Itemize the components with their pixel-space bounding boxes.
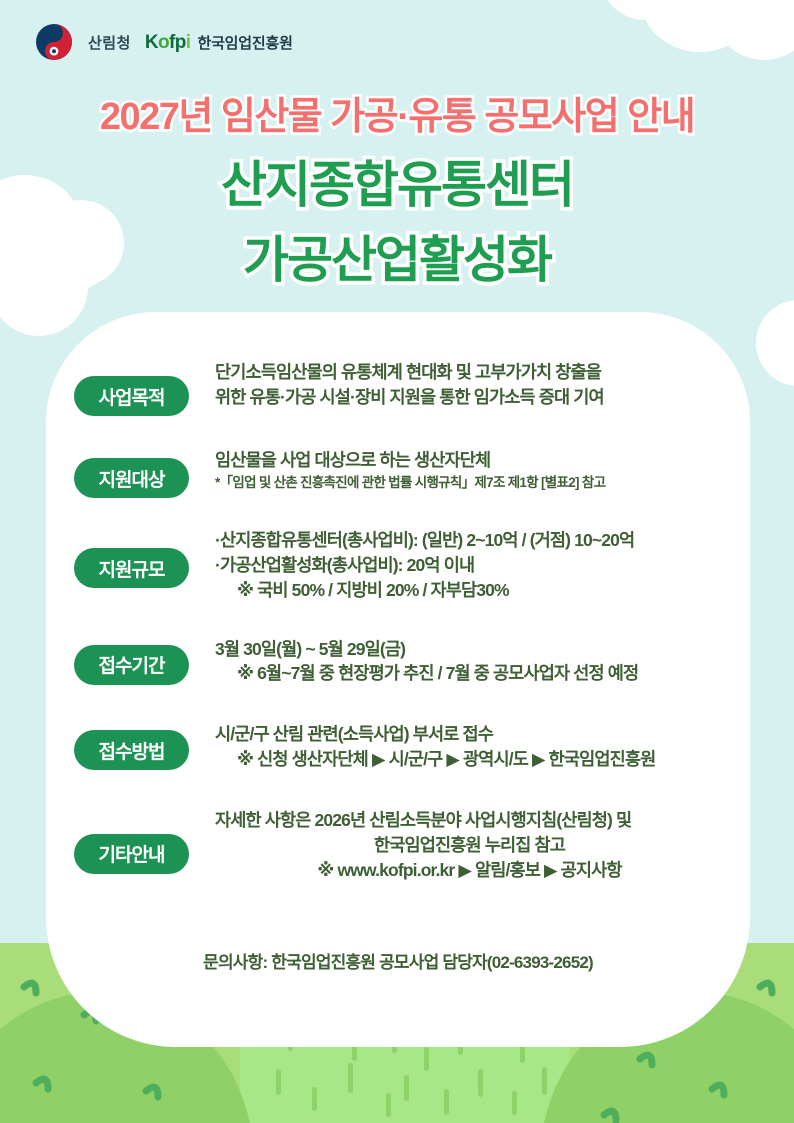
- section-row-scale: 지원규모 ·산지종합유통센터(총사업비): (일반) 2~10억 / (거점) …: [46, 528, 750, 603]
- section-label-period: 접수기간: [74, 645, 189, 685]
- cloud-decoration: [756, 300, 794, 386]
- section-body-period: 3월 30일(월) ~ 5월 29일(금) ※ 6월~7월 중 현장평가 추진 …: [189, 637, 724, 687]
- contact-line: 문의사항: 한국임업진흥원 공모사업 담당자(02-6393-2652): [46, 948, 750, 973]
- section-body-method: 시/군/구 산림 관련(소득사업) 부서로 접수 ※ 신청 생산자단체 ▶ 시/…: [189, 722, 724, 772]
- section-note: ※ 6월~7월 중 현장평가 추진 / 7월 중 공모사업자 선정 예정: [215, 661, 724, 686]
- kfs-label: 산림청: [88, 32, 131, 53]
- section-row-etc: 기타안내 자세한 사항은 2026년 산림소득분야 사업시행지침(산림청) 및 …: [46, 808, 750, 883]
- section-row-period: 접수기간 3월 30일(월) ~ 5월 29일(금) ※ 6월~7월 중 현장평…: [46, 637, 750, 687]
- section-body-purpose: 단기소득임산물의 유통체계 현대화 및 고부가가치 창출을 위한 유통·가공 시…: [189, 360, 724, 410]
- poster-title: 2027년 임산물 가공·유통 공모사업 안내 산지종합유통센터 가공산업활성화: [0, 96, 794, 290]
- section-label-target: 지원대상: [74, 458, 189, 498]
- section-label-etc: 기타안내: [74, 834, 189, 874]
- kofpi-label: 한국임업진흥원: [197, 32, 292, 53]
- section-body-target: 임산물을 사업 대상으로 하는 생산자단체 *「임업 및 산촌 진흥촉진에 관한…: [189, 448, 724, 493]
- title-year-line: 2027년 임산물 가공·유통 공모사업 안내: [0, 96, 794, 140]
- section-line: 단기소득임산물의 유통체계 현대화 및 고부가가치 창출을: [215, 360, 724, 385]
- section-row-purpose: 사업목적 단기소득임산물의 유통체계 현대화 및 고부가가치 창출을 위한 유통…: [46, 360, 750, 416]
- section-line: 위한 유통·가공 시설·장비 지원을 통한 임가소득 증대 기여: [215, 385, 724, 410]
- kofpi-wordmark: Kofpi: [145, 33, 191, 52]
- poster: 산림청 Kofpi 한국임업진흥원 2027년 임산물 가공·유통 공모사업 안…: [0, 0, 794, 1123]
- title-main-line-2: 가공산업활성화: [0, 231, 794, 290]
- section-line: 한국임업진흥원 누리집 참고: [215, 833, 724, 858]
- korea-forest-service-taegeuk-logo: [34, 22, 74, 62]
- section-line: 임산물을 사업 대상으로 하는 생산자단체: [215, 448, 724, 473]
- section-body-scale: ·산지종합유통센터(총사업비): (일반) 2~10억 / (거점) 10~20…: [189, 528, 724, 603]
- sections-list: 사업목적 단기소득임산물의 유통체계 현대화 및 고부가가치 창출을 위한 유통…: [46, 356, 750, 882]
- section-label-method: 접수방법: [74, 730, 189, 770]
- section-line: ·산지종합유통센터(총사업비): (일반) 2~10억 / (거점) 10~20…: [215, 528, 724, 553]
- section-row-target: 지원대상 임산물을 사업 대상으로 하는 생산자단체 *「임업 및 산촌 진흥촉…: [46, 448, 750, 498]
- section-line: ·가공산업활성화(총사업비): 20억 이내: [215, 553, 724, 578]
- section-note: ※ 국비 50% / 지방비 20% / 자부담30%: [215, 578, 724, 603]
- section-body-etc: 자세한 사항은 2026년 산림소득분야 사업시행지침(산림청) 및 한국임업진…: [189, 808, 724, 883]
- title-main-line-1: 산지종합유통센터: [0, 156, 794, 215]
- logo-bar: 산림청 Kofpi 한국임업진흥원: [34, 22, 293, 62]
- section-line: 시/군/구 산림 관련(소득사업) 부서로 접수: [215, 722, 724, 747]
- section-row-method: 접수방법 시/군/구 산림 관련(소득사업) 부서로 접수 ※ 신청 생산자단체…: [46, 722, 750, 772]
- content-card: 사업목적 단기소득임산물의 유통체계 현대화 및 고부가가치 창출을 위한 유통…: [46, 312, 750, 1047]
- section-label-scale: 지원규모: [74, 548, 189, 588]
- section-line: 3월 30일(월) ~ 5월 29일(금): [215, 637, 724, 662]
- kofpi-lockup: Kofpi 한국임업진흥원: [145, 32, 293, 53]
- cloud-decoration: [712, 0, 794, 60]
- section-note: ※ 신청 생산자단체 ▶ 시/군/구 ▶ 광역시/도 ▶ 한국임업진흥원: [215, 747, 724, 772]
- section-footnote: *「임업 및 산촌 진흥촉진에 관한 법률 시행규칙」제7조 제1항 [별표2]…: [215, 473, 724, 493]
- section-line: 자세한 사항은 2026년 산림소득분야 사업시행지침(산림청) 및: [215, 808, 724, 833]
- section-website-note[interactable]: ※ www.kofpi.or.kr ▶ 알림/홍보 ▶ 공지사항: [215, 858, 724, 883]
- section-label-purpose: 사업목적: [74, 376, 189, 416]
